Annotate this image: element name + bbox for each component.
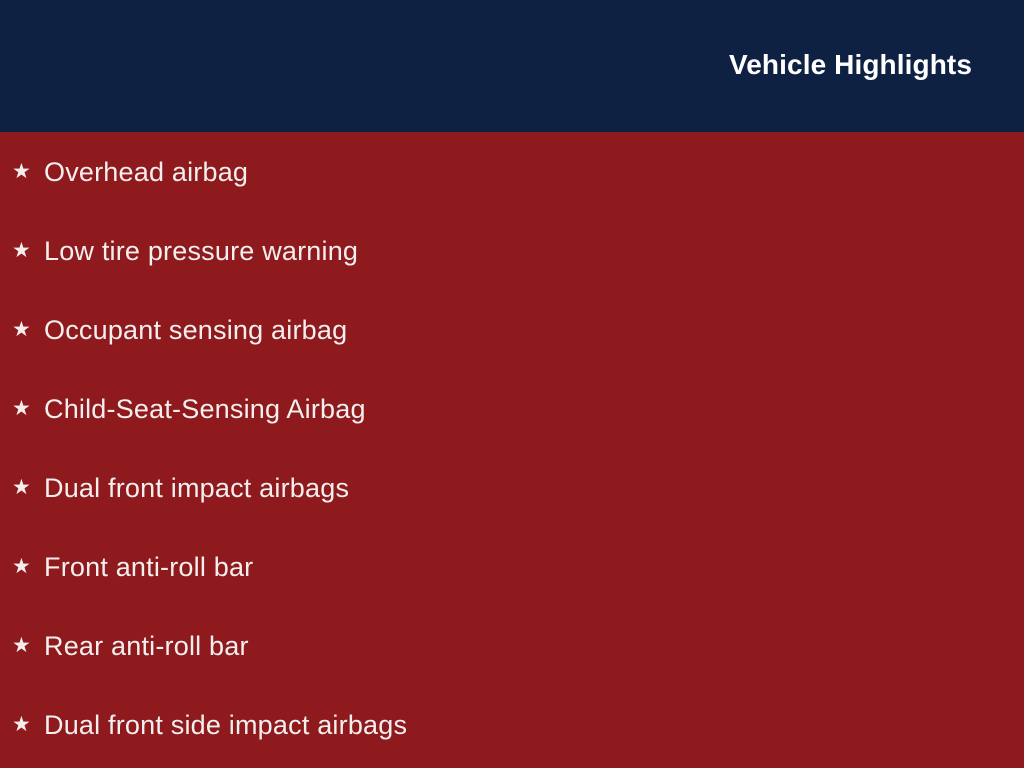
list-item: ★ Child-Seat-Sensing Airbag (0, 369, 1024, 448)
feature-label: Overhead airbag (44, 155, 248, 189)
list-item: ★ Low tire pressure warning (0, 211, 1024, 290)
feature-label: Child-Seat-Sensing Airbag (44, 392, 366, 426)
star-icon: ★ (12, 238, 32, 264)
star-icon: ★ (12, 317, 32, 343)
feature-label: Low tire pressure warning (44, 234, 358, 268)
star-icon: ★ (12, 712, 32, 738)
star-icon: ★ (12, 554, 32, 580)
feature-label: Occupant sensing airbag (44, 313, 347, 347)
vehicle-highlights-slide: Vehicle Highlights ★ Overhead airbag ★ L… (0, 0, 1024, 768)
list-item: ★ Dual front impact airbags (0, 448, 1024, 527)
feature-label: Rear anti-roll bar (44, 629, 249, 663)
list-item: ★ Occupant sensing airbag (0, 290, 1024, 369)
feature-label: Dual front impact airbags (44, 471, 349, 505)
list-item: ★ Front anti-roll bar (0, 527, 1024, 606)
star-icon: ★ (12, 396, 32, 422)
star-icon: ★ (12, 633, 32, 659)
vehicle-feature-list: ★ Overhead airbag ★ Low tire pressure wa… (0, 132, 1024, 764)
list-item: ★ Overhead airbag (0, 132, 1024, 211)
feature-label: Dual front side impact airbags (44, 708, 407, 742)
page-title: Vehicle Highlights (729, 48, 972, 82)
slide-header-band: Vehicle Highlights (0, 0, 1024, 132)
slide-content-area: ★ Overhead airbag ★ Low tire pressure wa… (0, 132, 1024, 768)
list-item: ★ Dual front side impact airbags (0, 685, 1024, 764)
star-icon: ★ (12, 475, 32, 501)
list-item: ★ Rear anti-roll bar (0, 606, 1024, 685)
star-icon: ★ (12, 159, 32, 185)
feature-label: Front anti-roll bar (44, 550, 253, 584)
